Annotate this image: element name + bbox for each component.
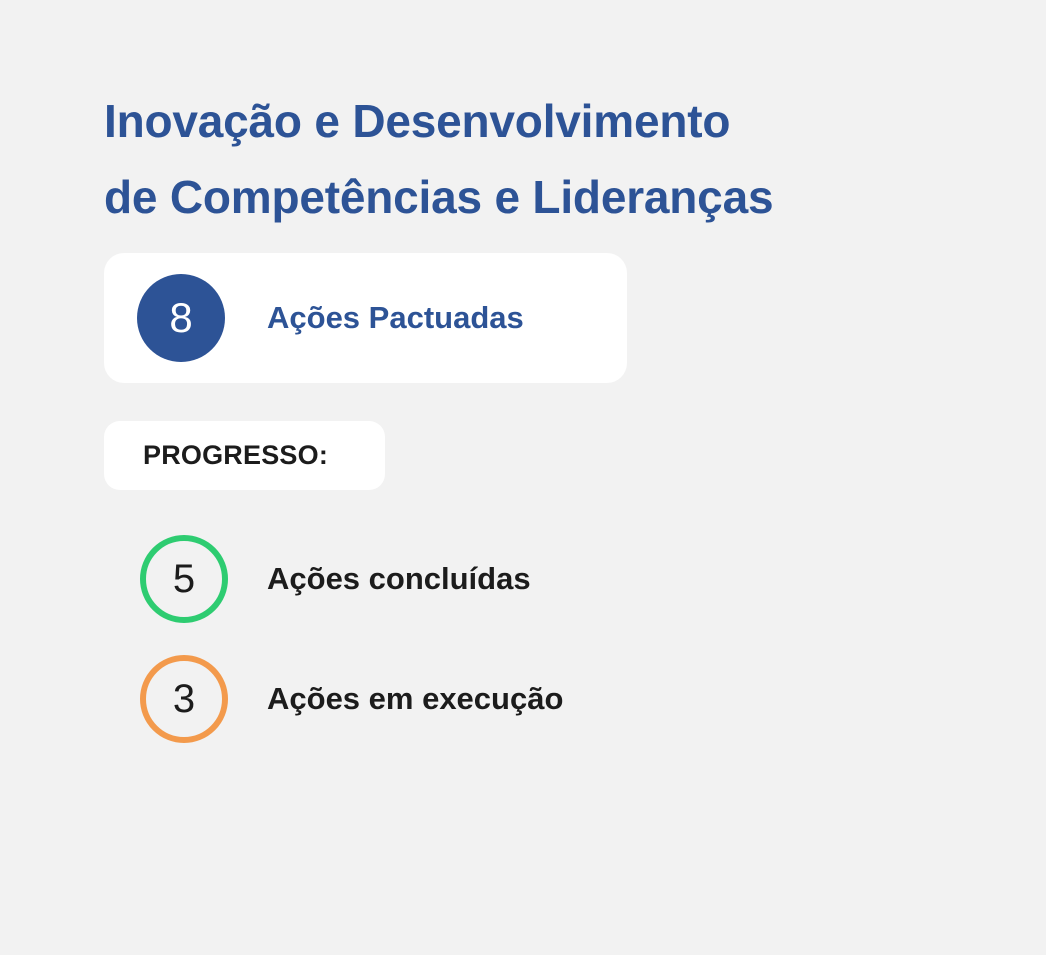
acoes-em-execucao-label: Ações em execução — [267, 681, 563, 717]
acoes-pactuadas-count-badge: 8 — [137, 274, 225, 362]
progress-item-acoes-em-execucao: 3 Ações em execução — [140, 655, 563, 743]
progresso-badge: PROGRESSO: — [104, 421, 385, 490]
infographic-panel: Inovação e Desenvolvimento de Competênci… — [0, 0, 1046, 955]
acoes-concluidas-label: Ações concluídas — [267, 561, 531, 597]
progresso-badge-label: PROGRESSO: — [143, 440, 328, 471]
page-title: Inovação e Desenvolvimento de Competênci… — [104, 83, 964, 235]
summary-card-acoes-pactuadas: 8 Ações Pactuadas — [104, 253, 627, 383]
progress-item-acoes-concluidas: 5 Ações concluídas — [140, 535, 531, 623]
acoes-concluidas-count-ring: 5 — [140, 535, 228, 623]
acoes-pactuadas-label: Ações Pactuadas — [267, 253, 524, 383]
acoes-em-execucao-count-ring: 3 — [140, 655, 228, 743]
